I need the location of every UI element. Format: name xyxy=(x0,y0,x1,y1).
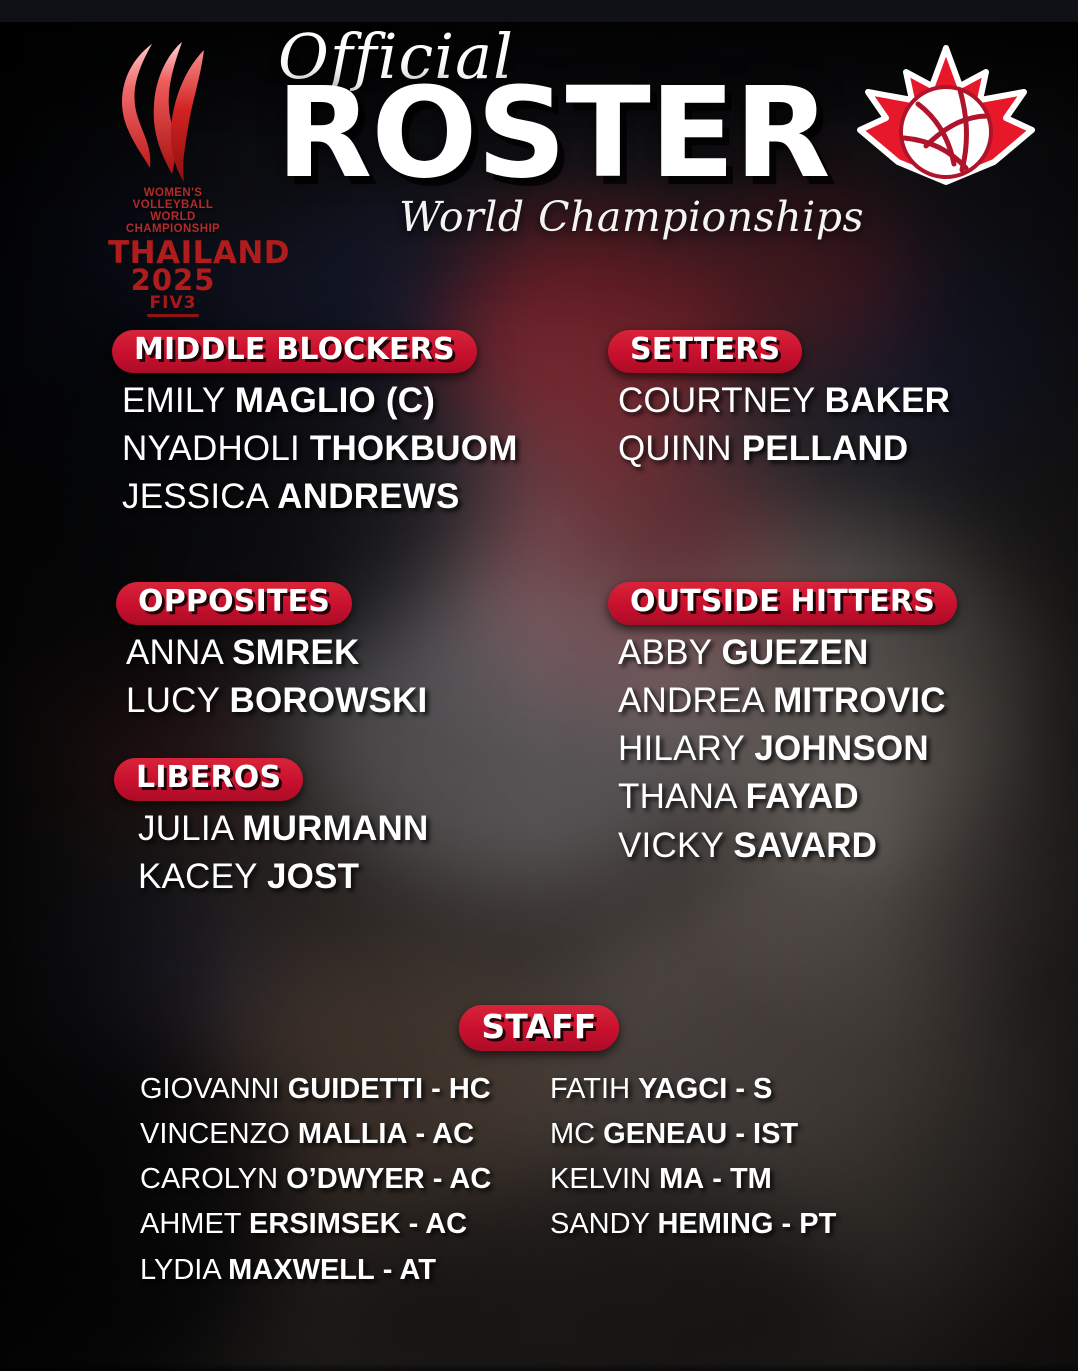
staff-last-name: YAGCI xyxy=(638,1073,727,1105)
group-badge-middle-blockers: MIDDLE BLOCKERS xyxy=(112,330,477,373)
player-last-name: BOROWSKI xyxy=(229,681,427,720)
player-row: ANDREA MITROVIC xyxy=(618,677,957,725)
staff-first-name: SANDY xyxy=(550,1208,649,1240)
group-badge-setters: SETTERS xyxy=(608,330,802,373)
staff-first-name: AHMET xyxy=(140,1208,241,1240)
player-last-name: SMREK xyxy=(232,633,359,672)
roster-poster: WOMEN'S VOLLEYBALL WORLD CHAMPIONSHIP TH… xyxy=(0,0,1078,1371)
player-last-name: PELLAND xyxy=(742,429,909,468)
player-row: VICKY SAVARD xyxy=(618,822,957,870)
staff-role: - HC xyxy=(431,1073,491,1105)
group-badge-opposites: OPPOSITES xyxy=(116,582,352,625)
player-last-name: GUEZEN xyxy=(721,633,868,672)
group-label: SETTERS xyxy=(630,335,780,366)
group-outside-hitters: OUTSIDE HITTERS ABBY GUEZEN ANDREA MITRO… xyxy=(608,582,957,870)
group-label: MIDDLE BLOCKERS xyxy=(134,335,455,366)
group-setters: SETTERS COURTNEY BAKER QUINN PELLAND xyxy=(608,330,950,473)
staff-last-name: O’DWYER xyxy=(286,1163,425,1195)
staff-first-name: GIOVANNI xyxy=(140,1073,280,1105)
player-first-name: VICKY xyxy=(618,826,723,865)
staff-last-name: MA xyxy=(659,1163,704,1195)
staff-role: - AC xyxy=(409,1208,468,1240)
staff-role: - AC xyxy=(433,1163,492,1195)
player-last-name: JOHNSON xyxy=(754,729,929,768)
player-last-name: JOST xyxy=(267,857,359,896)
group-badge-staff: STAFF xyxy=(459,1005,618,1051)
staff-first-name: CAROLYN xyxy=(140,1163,278,1195)
staff-badge-wrap: STAFF xyxy=(0,1005,1078,1051)
group-badge-liberos: LIBEROS xyxy=(114,758,303,801)
staff-row: GIOVANNI GUIDETTI - HC xyxy=(140,1067,550,1112)
player-first-name: LUCY xyxy=(126,681,220,720)
player-first-name: COURTNEY xyxy=(618,381,815,420)
staff-role: - IST xyxy=(735,1118,798,1150)
player-row: COURTNEY BAKER xyxy=(618,377,950,425)
fivb-flame-icon xyxy=(108,36,238,186)
staff-row: MC GENEAU - IST xyxy=(550,1112,950,1157)
staff-first-name: LYDIA xyxy=(140,1254,220,1286)
player-last-name: ANDREWS xyxy=(277,477,459,516)
staff-role: - PT xyxy=(782,1208,837,1240)
staff-first-name: MC xyxy=(550,1118,595,1150)
player-list: EMILY MAGLIO (C) NYADHOLI THOKBUOM JESSI… xyxy=(122,377,518,522)
group-middle-blockers: MIDDLE BLOCKERS EMILY MAGLIO (C) NYADHOL… xyxy=(112,330,518,521)
staff-role: - AT xyxy=(383,1254,436,1286)
staff-last-name: MAXWELL xyxy=(228,1254,375,1286)
staff-role: - S xyxy=(735,1073,772,1105)
group-label: STAFF xyxy=(481,1007,596,1046)
player-first-name: THANA xyxy=(618,777,736,816)
bottom-fade xyxy=(0,1363,1078,1371)
player-row: ANNA SMREK xyxy=(126,629,427,677)
staff-row: FATIH YAGCI - S xyxy=(550,1067,950,1112)
staff-row: SANDY HEMING - PT xyxy=(550,1202,950,1247)
player-first-name: HILARY xyxy=(618,729,744,768)
fivb-logo-line1: WOMEN'S VOLLEYBALL xyxy=(108,188,238,211)
player-first-name: JULIA xyxy=(138,809,232,848)
fivb-logo-federation: FIV3 xyxy=(108,295,238,312)
staff-last-name: ERSIMSEK xyxy=(249,1208,400,1240)
player-row: KACEY JOST xyxy=(138,853,428,901)
staff-row: LYDIA MAXWELL - AT xyxy=(140,1248,550,1293)
player-first-name: ABBY xyxy=(618,633,712,672)
player-first-name: KACEY xyxy=(138,857,257,896)
player-first-name: ANDREA xyxy=(618,681,763,720)
staff-column-left: GIOVANNI GUIDETTI - HC VINCENZO MALLIA -… xyxy=(140,1067,550,1293)
player-row: THANA FAYAD xyxy=(618,773,957,821)
player-first-name: ANNA xyxy=(126,633,222,672)
player-row: NYADHOLI THOKBUOM xyxy=(122,425,518,473)
staff-first-name: FATIH xyxy=(550,1073,630,1105)
player-first-name: NYADHOLI xyxy=(122,429,300,468)
player-last-name: FAYAD xyxy=(746,777,859,816)
player-first-name: EMILY xyxy=(122,381,225,420)
staff-row: KELVIN MA - TM xyxy=(550,1157,950,1202)
player-row: LUCY BOROWSKI xyxy=(126,677,427,725)
group-label: LIBEROS xyxy=(136,763,281,794)
player-first-name: JESSICA xyxy=(122,477,267,516)
fivb-logo-line2: WORLD CHAMPIONSHIP xyxy=(108,212,238,235)
player-list: ABBY GUEZEN ANDREA MITROVIC HILARY JOHNS… xyxy=(618,629,957,870)
player-row: ABBY GUEZEN xyxy=(618,629,957,677)
player-list: JULIA MURMANN KACEY JOST xyxy=(138,805,428,902)
staff-row: VINCENZO MALLIA - AC xyxy=(140,1112,550,1157)
player-last-name: MITROVIC xyxy=(773,681,946,720)
staff-section: STAFF GIOVANNI GUIDETTI - HC VINCENZO MA… xyxy=(0,1005,1078,1293)
group-label: OUTSIDE HITTERS xyxy=(630,587,935,618)
staff-last-name: MALLIA xyxy=(298,1118,408,1150)
player-list: COURTNEY BAKER QUINN PELLAND xyxy=(618,377,950,474)
fivb-logo-underline xyxy=(147,314,199,317)
staff-row: AHMET ERSIMSEK - AC xyxy=(140,1202,550,1247)
staff-first-name: KELVIN xyxy=(550,1163,651,1195)
group-liberos: LIBEROS JULIA MURMANN KACEY JOST xyxy=(114,758,428,901)
staff-column-right: FATIH YAGCI - S MC GENEAU - IST KELVIN M… xyxy=(550,1067,950,1293)
player-last-name: MURMANN xyxy=(242,809,428,848)
player-row: JULIA MURMANN xyxy=(138,805,428,853)
player-row: QUINN PELLAND xyxy=(618,425,950,473)
staff-last-name: GENEAU xyxy=(603,1118,727,1150)
staff-row: CAROLYN O’DWYER - AC xyxy=(140,1157,550,1202)
staff-last-name: GUIDETTI xyxy=(288,1073,423,1105)
player-last-name: SAVARD xyxy=(733,826,877,865)
position-groups: MIDDLE BLOCKERS EMILY MAGLIO (C) NYADHOL… xyxy=(0,330,1078,970)
player-row: HILARY JOHNSON xyxy=(618,725,957,773)
staff-columns: GIOVANNI GUIDETTI - HC VINCENZO MALLIA -… xyxy=(0,1067,1078,1293)
group-label: OPPOSITES xyxy=(138,587,330,618)
player-last-name: THOKBUOM xyxy=(310,429,518,468)
player-list: ANNA SMREK LUCY BOROWSKI xyxy=(126,629,427,726)
staff-first-name: VINCENZO xyxy=(140,1118,290,1150)
group-badge-outside-hitters: OUTSIDE HITTERS xyxy=(608,582,957,625)
group-opposites: OPPOSITES ANNA SMREK LUCY BOROWSKI xyxy=(116,582,427,725)
player-last-name: BAKER xyxy=(825,381,950,420)
volleyball-canada-logo-icon xyxy=(856,42,1036,207)
fivb-world-championship-logo: WOMEN'S VOLLEYBALL WORLD CHAMPIONSHIP TH… xyxy=(108,36,238,276)
staff-role: - TM xyxy=(712,1163,772,1195)
page-title: ROSTER xyxy=(276,76,870,191)
staff-role: - AC xyxy=(416,1118,475,1150)
player-row: EMILY MAGLIO (C) xyxy=(122,377,518,425)
player-last-name: MAGLIO (C) xyxy=(235,381,435,420)
staff-last-name: HEMING xyxy=(657,1208,773,1240)
player-first-name: QUINN xyxy=(618,429,732,468)
player-row: JESSICA ANDREWS xyxy=(122,473,518,521)
title-block: Official ROSTER World Championships xyxy=(250,26,870,241)
poster-header: WOMEN'S VOLLEYBALL WORLD CHAMPIONSHIP TH… xyxy=(0,0,1078,320)
